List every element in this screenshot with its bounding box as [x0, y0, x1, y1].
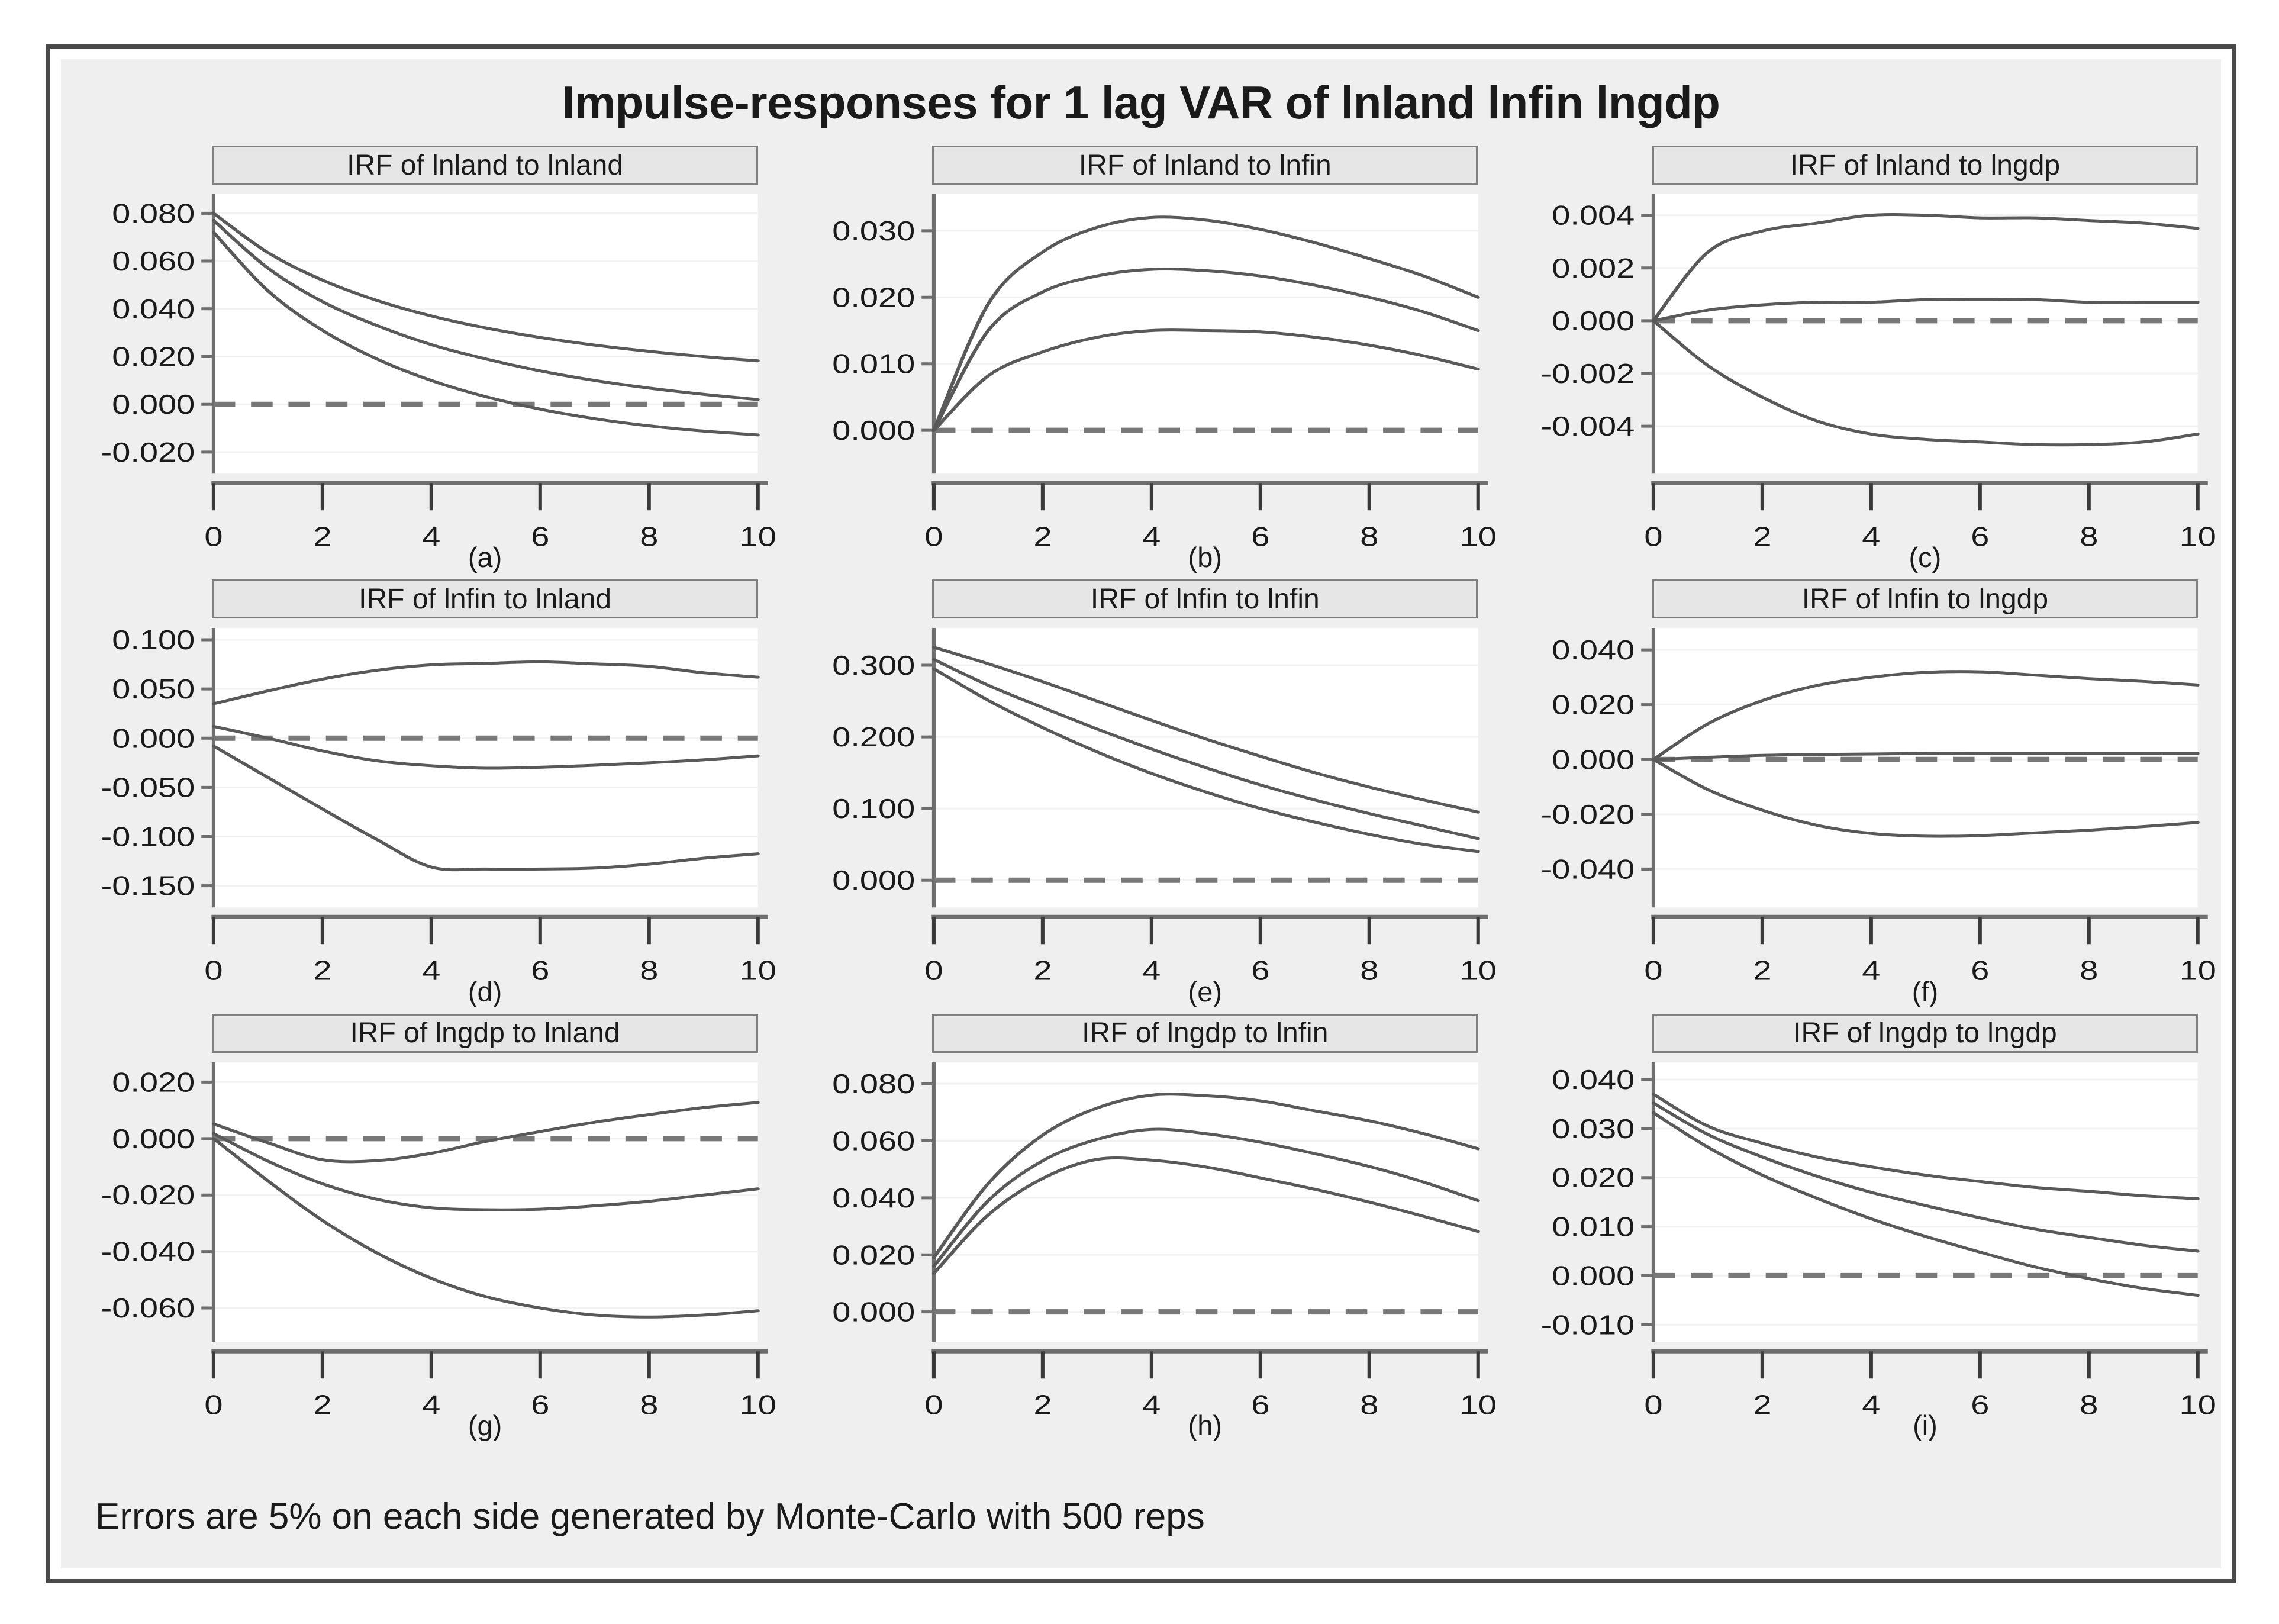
- irf-panel-title: IRF of lnland to lnfin: [932, 146, 1478, 185]
- y-tick-label: -0.040: [1541, 854, 1635, 884]
- irf-plot-area: 0.0000.0100.0200.0300246810: [781, 142, 1501, 576]
- irf-plot-area: -0.040-0.0200.0000.0200.0400246810: [1501, 576, 2221, 1010]
- irf-panel-title: IRF of lnland to lnland: [212, 146, 757, 185]
- irf-panel-letter: (f): [1652, 975, 2198, 1008]
- y-tick-label: 0.060: [112, 246, 195, 276]
- y-tick-label: 0.000: [1552, 306, 1635, 336]
- irf-panel-title: IRF of lngdp to lnland: [212, 1014, 757, 1053]
- irf-plot-area: -0.0200.0000.0200.0400.0600.0800246810: [61, 142, 781, 576]
- y-tick-label: -0.020: [101, 1180, 195, 1210]
- y-tick-label: 0.000: [112, 723, 195, 753]
- y-tick-label: 0.200: [832, 722, 915, 752]
- irf-panel-a: -0.0200.0000.0200.0400.0600.0800246810IR…: [61, 142, 781, 576]
- figure-footnote: Errors are 5% on each side generated by …: [95, 1496, 1205, 1538]
- irf-panel-letter: (d): [212, 975, 757, 1008]
- y-tick-label: 0.000: [112, 389, 195, 420]
- irf-panel-letter: (c): [1652, 541, 2198, 573]
- y-tick-label: 0.040: [1552, 635, 1635, 665]
- figure-canvas: Impulse-responses for 1 lag VAR of lnlan…: [61, 59, 2221, 1568]
- y-tick-label: -0.020: [1541, 800, 1635, 830]
- y-tick-label: -0.020: [101, 437, 195, 468]
- y-tick-label: -0.150: [101, 871, 195, 901]
- y-tick-label: -0.100: [101, 822, 195, 852]
- y-tick-label: 0.030: [832, 216, 915, 246]
- irf-panel-title: IRF of lnfin to lnland: [212, 579, 757, 618]
- irf-plot-area: -0.150-0.100-0.0500.0000.0500.1000246810: [61, 576, 781, 1010]
- y-tick-label: 0.000: [1552, 1261, 1635, 1291]
- y-tick-label: 0.000: [1552, 745, 1635, 775]
- irf-panel-title: IRF of lngdp to lngdp: [1652, 1014, 2198, 1053]
- irf-plot-area: -0.060-0.040-0.0200.0000.0200246810: [61, 1010, 781, 1444]
- y-tick-label: 0.030: [1552, 1113, 1635, 1143]
- irf-panel-letter: (a): [212, 541, 757, 573]
- y-tick-label: 0.002: [1552, 253, 1635, 283]
- y-tick-label: 0.000: [832, 1297, 915, 1327]
- y-tick-label: 0.000: [832, 415, 915, 446]
- y-tick-label: -0.050: [101, 772, 195, 803]
- y-tick-label: 0.010: [1552, 1211, 1635, 1242]
- irf-panel-letter: (e): [932, 975, 1478, 1008]
- irf-panel-title: IRF of lnland to lngdp: [1652, 146, 2198, 185]
- figure-title: Impulse-responses for 1 lag VAR of lnlan…: [61, 76, 2221, 130]
- irf-panel-g: -0.060-0.040-0.0200.0000.0200246810IRF o…: [61, 1010, 781, 1444]
- irf-panel-e: 0.0000.1000.2000.3000246810IRF of lnfin …: [781, 576, 1501, 1010]
- irf-panel-f: -0.040-0.0200.0000.0200.0400246810IRF of…: [1501, 576, 2221, 1010]
- y-tick-label: 0.010: [832, 349, 915, 379]
- irf-panel-c: -0.004-0.0020.0000.0020.0040246810IRF of…: [1501, 142, 2221, 576]
- y-tick-label: 0.080: [112, 198, 195, 228]
- irf-panel-i: -0.0100.0000.0100.0200.0300.0400246810IR…: [1501, 1010, 2221, 1444]
- y-tick-label: 0.020: [1552, 690, 1635, 720]
- irf-panel-d: -0.150-0.100-0.0500.0000.0500.1000246810…: [61, 576, 781, 1010]
- y-tick-label: -0.060: [101, 1293, 195, 1323]
- irf-panel-letter: (h): [932, 1409, 1478, 1442]
- y-tick-label: 0.020: [1552, 1162, 1635, 1193]
- irf-plot-area: 0.0000.1000.2000.3000246810: [781, 576, 1501, 1010]
- y-tick-label: 0.100: [112, 625, 195, 655]
- figure-frame: Impulse-responses for 1 lag VAR of lnlan…: [46, 44, 2236, 1583]
- irf-panel-h: 0.0000.0200.0400.0600.0800246810IRF of l…: [781, 1010, 1501, 1444]
- y-tick-label: -0.040: [101, 1236, 195, 1267]
- y-tick-label: 0.100: [832, 794, 915, 824]
- irf-panel-title: IRF of lnfin to lnfin: [932, 579, 1478, 618]
- y-tick-label: 0.020: [832, 1240, 915, 1270]
- y-tick-label: -0.010: [1541, 1310, 1635, 1340]
- irf-plot-area: -0.004-0.0020.0000.0020.0040246810: [1501, 142, 2221, 576]
- irf-panel-grid: -0.0200.0000.0200.0400.0600.0800246810IR…: [61, 142, 2221, 1444]
- irf-plot-area: -0.0100.0000.0100.0200.0300.0400246810: [1501, 1010, 2221, 1444]
- irf-panel-letter: (i): [1652, 1409, 2198, 1442]
- y-tick-label: 0.300: [832, 650, 915, 681]
- y-tick-label: 0.050: [112, 674, 195, 704]
- irf-panel-b: 0.0000.0100.0200.0300246810IRF of lnland…: [781, 142, 1501, 576]
- y-tick-label: 0.040: [1552, 1064, 1635, 1094]
- y-tick-label: 0.020: [112, 1067, 195, 1097]
- y-tick-label: 0.000: [112, 1123, 195, 1153]
- y-tick-label: 0.020: [112, 341, 195, 372]
- y-tick-label: -0.002: [1541, 359, 1635, 389]
- irf-plot-area: 0.0000.0200.0400.0600.0800246810: [781, 1010, 1501, 1444]
- y-tick-label: 0.000: [832, 865, 915, 895]
- y-tick-label: 0.004: [1552, 200, 1635, 230]
- y-tick-label: 0.040: [832, 1182, 915, 1213]
- irf-panel-letter: (b): [932, 541, 1478, 573]
- irf-panel-title: IRF of lngdp to lnfin: [932, 1014, 1478, 1053]
- y-tick-label: 0.060: [832, 1126, 915, 1156]
- y-tick-label: 0.020: [832, 282, 915, 312]
- y-tick-label: 0.040: [112, 294, 195, 324]
- y-tick-label: -0.004: [1541, 411, 1635, 442]
- irf-panel-title: IRF of lnfin to lngdp: [1652, 579, 2198, 618]
- y-tick-label: 0.080: [832, 1069, 915, 1099]
- irf-panel-letter: (g): [212, 1409, 757, 1442]
